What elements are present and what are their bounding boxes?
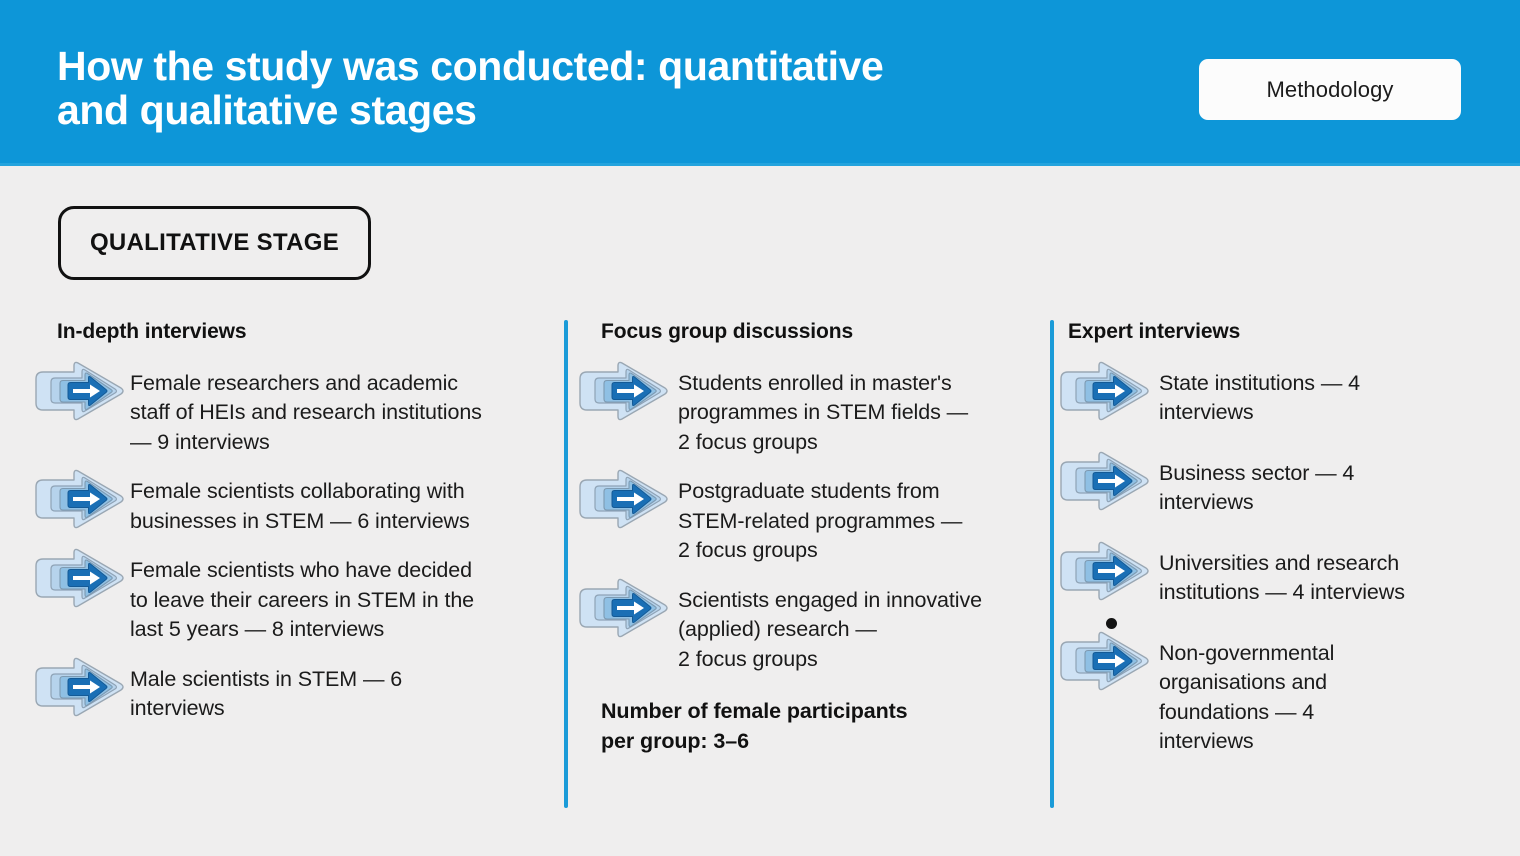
- stage-pill-label: QUALITATIVE STAGE: [90, 229, 339, 257]
- column-focus-group-discussions: Focus group discussions Students enrolle…: [601, 320, 1041, 756]
- column-heading: Expert interviews: [1068, 320, 1498, 345]
- list-item: Female researchers and academic staff of…: [57, 366, 547, 457]
- list-item-text: Male scientists in STEM — 6 interviews: [130, 662, 402, 724]
- column-items: Female researchers and academic staff of…: [57, 366, 547, 724]
- list-item-text: State institutions — 4 interviews: [1159, 366, 1360, 428]
- layered-blue-arrow-icon: [35, 547, 109, 605]
- column-divider-1: [564, 320, 568, 808]
- layered-blue-arrow-icon: [579, 360, 655, 418]
- layered-blue-arrow-icon: [1060, 450, 1146, 508]
- list-item: Female scientists collaborating with bus…: [57, 474, 547, 536]
- stage-pill: QUALITATIVE STAGE: [58, 206, 371, 280]
- methodology-badge-label: Methodology: [1266, 77, 1393, 103]
- layered-blue-arrow-icon: [1060, 360, 1146, 418]
- list-item-text: Female scientists collaborating with bus…: [130, 474, 470, 536]
- list-item-text: Students enrolled in master's programmes…: [678, 366, 968, 457]
- column-heading: Focus group discussions: [601, 320, 1041, 345]
- list-item: Students enrolled in master's programmes…: [601, 366, 1041, 457]
- list-item: Male scientists in STEM — 6 interviews: [57, 662, 547, 724]
- layered-blue-arrow-icon: [35, 656, 109, 714]
- list-item: Scientists engaged in innovative (applie…: [601, 583, 1041, 674]
- page-title: How the study was conducted: quantitativ…: [57, 44, 1147, 133]
- list-item-text: Business sector — 4 interviews: [1159, 456, 1354, 518]
- list-item: Universities and research institutions —…: [1068, 546, 1498, 608]
- dot-bullet-icon: [1106, 618, 1117, 629]
- page-header: How the study was conducted: quantitativ…: [0, 0, 1520, 166]
- list-item: Business sector — 4 interviews: [1068, 456, 1498, 518]
- list-item: Non-governmental organisations and found…: [1068, 636, 1498, 757]
- layered-blue-arrow-icon: [1060, 630, 1146, 688]
- list-item-text: Female scientists who have decided to le…: [130, 553, 474, 644]
- list-item-text: Postgraduate students from STEM-related …: [678, 474, 962, 565]
- layered-blue-arrow-icon: [579, 577, 655, 635]
- layered-blue-arrow-icon: [35, 468, 109, 526]
- list-item: State institutions — 4 interviews: [1068, 366, 1498, 428]
- list-item-text: Non-governmental organisations and found…: [1159, 636, 1334, 757]
- column-in-depth-interviews: In-depth interviews Female researchers a…: [57, 320, 547, 746]
- layered-blue-arrow-icon: [1060, 540, 1146, 598]
- columns-area: In-depth interviews Female researchers a…: [0, 320, 1520, 810]
- methodology-badge: Methodology: [1199, 59, 1461, 120]
- layered-blue-arrow-icon: [35, 360, 109, 418]
- column-footnote: Number of female participants per group:…: [601, 696, 1041, 756]
- list-item-text: Scientists engaged in innovative (applie…: [678, 583, 982, 674]
- list-item-text: Universities and research institutions —…: [1159, 546, 1405, 608]
- list-item-text: Female researchers and academic staff of…: [130, 366, 482, 457]
- list-item: Postgraduate students from STEM-related …: [601, 474, 1041, 565]
- column-divider-2: [1050, 320, 1054, 808]
- column-heading: In-depth interviews: [57, 320, 547, 345]
- layered-blue-arrow-icon: [579, 468, 655, 526]
- column-expert-interviews: Expert interviews State institutions — 4…: [1068, 320, 1498, 785]
- column-items: State institutions — 4 interviews Busine…: [1068, 366, 1498, 757]
- column-items: Students enrolled in master's programmes…: [601, 366, 1041, 674]
- list-item: Female scientists who have decided to le…: [57, 553, 547, 644]
